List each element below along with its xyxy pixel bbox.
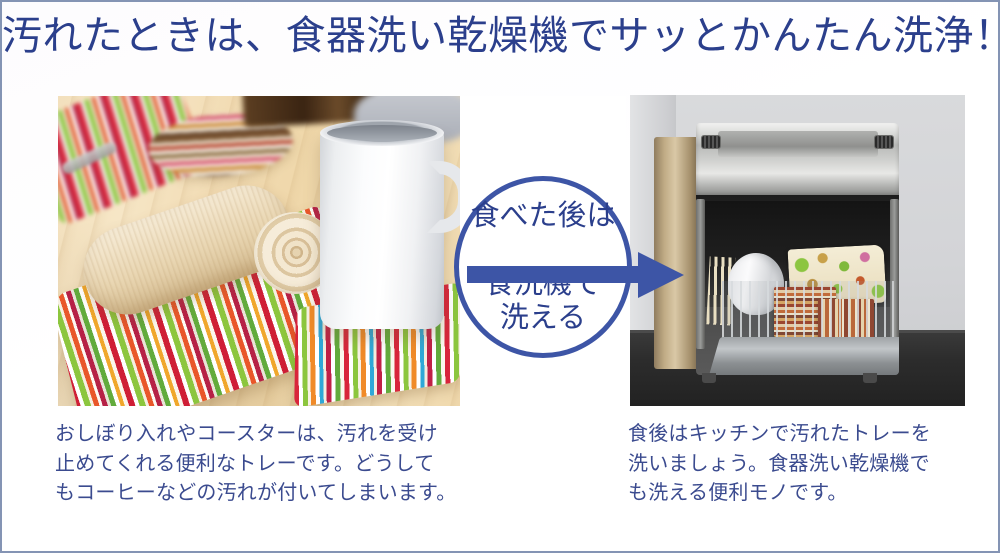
dishwasher-foot-right <box>863 373 877 383</box>
photo-table-with-tray <box>58 96 464 406</box>
dish-rack-tines <box>724 281 892 345</box>
photo-dishwasher <box>630 95 965 406</box>
dishwasher-button-right <box>875 136 893 148</box>
dishwasher-body <box>696 195 899 375</box>
dishwasher-open-door <box>708 337 899 375</box>
dishwasher-control-panel <box>696 123 899 197</box>
arrow-head <box>638 252 684 298</box>
caption-right: 食後はキッチンで汚れたトレーを 洗いましょう。食器洗い乾燥機で も洗える便利モノ… <box>628 420 973 509</box>
callout-line-3: 洗える <box>454 304 632 333</box>
countertop-dishwasher <box>654 123 899 375</box>
mug-rim <box>320 120 444 146</box>
dishwasher-foot-left <box>702 373 716 383</box>
arrow-shaft <box>467 266 639 283</box>
page-title: 汚れたときは、食器洗い乾燥機でサッとかんたん洗浄！！ <box>2 16 1000 56</box>
dishwasher-handle-recess <box>718 131 878 157</box>
dishwasher-button-left <box>702 136 720 148</box>
callout-line-1: 食べた後は <box>454 202 632 231</box>
caption-left: おしぼり入れやコースターは、汚れを受け 止めてくれる便利なトレーです。どうして … <box>55 420 525 509</box>
white-mug <box>320 129 444 329</box>
dishwasher-pillar-left <box>696 199 705 349</box>
promo-banner: 汚れたときは、食器洗い乾燥機でサッとかんたん洗浄！！ <box>0 0 1000 553</box>
right-arrow-icon <box>467 252 684 298</box>
